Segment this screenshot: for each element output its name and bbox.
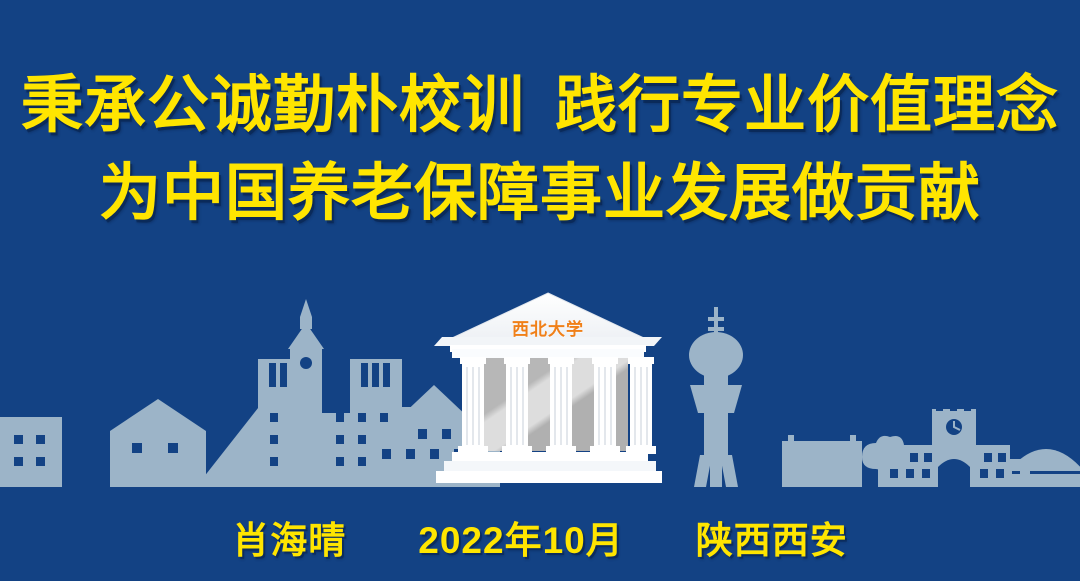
skyline-house xyxy=(110,399,206,487)
title-line-1-part-1: 秉承公诚勤朴校训 xyxy=(21,71,525,140)
slide-title: 秉承公诚勤朴校训践行专业价值理念 为中国养老保障事业发展做贡献 xyxy=(0,62,1080,238)
university-logo-label: 西北大学 xyxy=(432,315,664,340)
presentation-date: 2022年10月 xyxy=(418,515,623,567)
presentation-location: 陕西西安 xyxy=(696,515,848,567)
title-line-1-part-2: 践行专业价值理念 xyxy=(555,71,1059,140)
skyline-box-building xyxy=(782,435,862,487)
university-logo: 西北大学 xyxy=(432,289,664,489)
skyline-small-window-block xyxy=(0,417,62,487)
skyline-clock-tower xyxy=(288,299,324,487)
skyline-tv-tower xyxy=(689,307,743,487)
slide-footer: 肖海晴 2022年10月 陕西西安 xyxy=(0,515,1080,567)
title-line-2: 为中国养老保障事业发展做贡献 xyxy=(0,150,1080,238)
temple-base xyxy=(436,452,662,483)
skyline-domed-stadium xyxy=(1004,449,1080,487)
presenter-name: 肖海晴 xyxy=(232,515,346,567)
presentation-slide: 西北大学 秉承公诚勤朴校训践行专业价值理念 为中国养老保障事业发展做贡献 肖海晴… xyxy=(0,0,1080,581)
title-line-1: 秉承公诚勤朴校训践行专业价值理念 xyxy=(0,62,1080,150)
